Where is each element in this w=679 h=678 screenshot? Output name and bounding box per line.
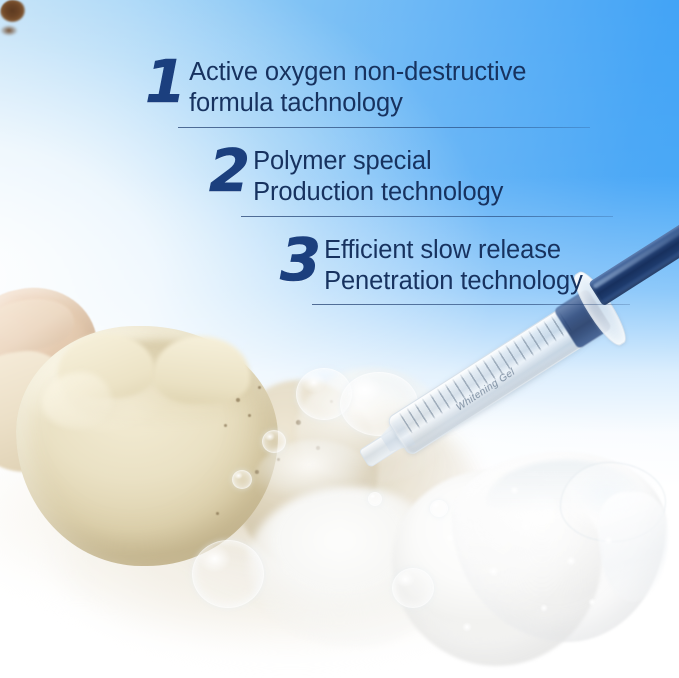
molar-cusp-left [58,334,154,398]
mouth-tray-rim [486,460,646,514]
stain-speck [248,414,251,417]
molar-cusp-right [154,336,250,404]
feature-number-3: 3 [280,233,319,287]
feature-divider-2 [241,216,613,217]
stain-speck [277,458,280,461]
stain-speck [296,546,300,550]
mouth-tray-icon-secondary [254,440,374,514]
gel-pool-main [150,395,480,600]
feature-list: 1 Active oxygen non-destructive formula … [0,0,679,320]
stain-speck [236,398,240,402]
feature-item-2: 2 Polymer special Production technology [209,142,503,208]
sparkle-highlight [566,556,576,566]
mouth-tray-icon [452,452,666,642]
molar-tooth-icon-right [228,380,378,570]
sparkle-highlight [488,566,499,577]
mouth-tray-wing [560,462,666,542]
stain-speck [330,400,333,403]
bubble-icon [340,372,418,436]
molar-tooth-icon-main [16,326,278,566]
syringe-graduation-ticks [399,308,586,447]
feature-line-2-2: Production technology [253,177,503,208]
gel-foam-blob [392,470,602,666]
bubble-icon [296,368,352,420]
bubble-icon [232,470,252,489]
syringe-tip-cone [376,416,416,459]
feature-divider-3 [312,304,630,305]
gel-foam-blob [248,486,448,646]
molar-occlusal-groove [64,340,252,426]
feature-divider-1 [178,127,590,128]
sparkle-highlight [520,520,532,532]
syringe-tip [358,424,411,469]
molar-buccal-ridge [42,372,112,428]
feature-line-3-1: Efficient slow release [324,235,583,266]
syringe-shadow [409,315,620,457]
sparkle-highlight [510,486,519,495]
gel-foam-blob [296,368,446,484]
gel-pool-left [0,440,200,590]
feature-line-2-1: Polymer special [253,146,503,177]
sparkle-highlight [540,604,548,612]
feature-number-1: 1 [145,55,184,109]
stain-speck [255,470,259,474]
stain-speck [327,517,332,522]
stain-speck [316,446,320,450]
feature-line-1-2: formula tachnology [189,88,526,119]
bubble-icon [192,540,264,608]
mouth-tray-handle [598,492,668,602]
bubble-icon [392,568,434,608]
stain-speck [224,424,227,427]
molar-tooth-neck [0,344,88,479]
syringe-barrel-label: Whitening Gel [454,367,517,414]
feature-text-3: Efficient slow release Penetration techn… [324,231,583,297]
bubble-icon [262,430,286,453]
product-feature-image: Whitening Gel 1 Active oxygen non-destru… [0,0,679,678]
feature-line-3-2: Penetration technology [324,266,583,297]
sparkle-highlight [462,622,472,632]
feature-text-1: Active oxygen non-destructive formula ta… [189,53,526,119]
sparkle-highlight [588,598,596,606]
sparkle-highlight [446,534,454,542]
feature-line-1-1: Active oxygen non-destructive [189,57,526,88]
sparkle-highlight [604,536,613,545]
bubble-icon [430,500,448,517]
feature-item-3: 3 Efficient slow release Penetration tec… [280,231,583,297]
stain-speck [258,386,261,389]
stain-speck [216,512,219,515]
feature-number-2: 2 [209,144,248,198]
stain-speck [296,420,301,425]
gel-pool-spread [60,470,530,650]
feature-item-1: 1 Active oxygen non-destructive formula … [145,53,526,119]
bubble-icon [368,492,382,506]
feature-text-2: Polymer special Production technology [253,142,503,208]
